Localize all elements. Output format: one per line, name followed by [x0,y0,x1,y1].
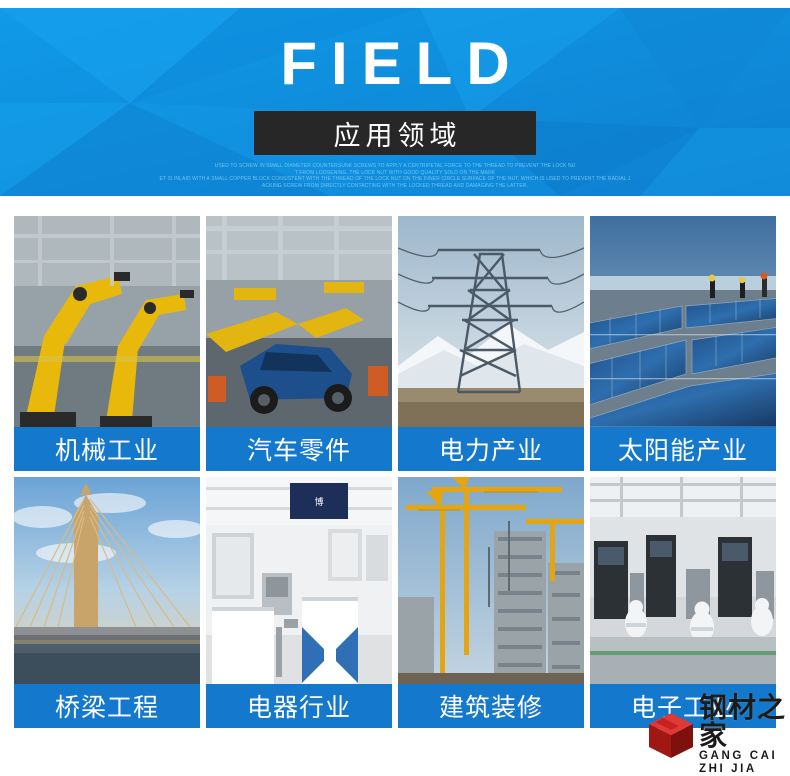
field-cell-electronics[interactable]: 电子工业 [590,477,776,728]
field-cell-solar[interactable]: 太阳能产业 [590,216,776,471]
fineprint-line-4: ACKING SCREW FROM DIRECTLY CONTACTING WI… [40,183,750,190]
home-appliance-showroom-photo: 博 [206,477,392,684]
field-label-construction: 建筑装修 [398,684,584,728]
field-label-machinery: 机械工业 [14,427,200,471]
solar-panel-farm-photo [590,216,776,427]
field-label-text: 电力产业 [439,431,543,467]
field-label-text: 桥梁工程 [55,688,159,724]
application-field-grid: 机械工业 [14,216,776,728]
electronics-factory-cleanroom-photo [590,477,776,684]
watermark-en-text: GANG CAI ZHI JIA [699,750,790,776]
fineprint-line-2: T FROM LOOSENING. THE LOCK NUT WITH GOOD… [40,170,750,177]
field-cell-power[interactable]: 电力产业 [398,216,584,471]
field-label-text: 电子工业 [631,688,735,724]
field-label-power: 电力产业 [398,427,584,471]
fineprint-line-3: ET IS INLAID WITH A SMALL COPPER BLOCK C… [40,176,750,183]
industrial-robot-arms-factory-photo [14,216,200,427]
field-label-text: 电器行业 [247,688,351,724]
field-label-electronics: 电子工业 [590,684,776,728]
banner-fineprint: USED TO SCREW IN SMALL DIAMETER COUNTERS… [0,163,790,189]
electric-transmission-tower-photo [398,216,584,427]
field-label-auto-parts: 汽车零件 [206,427,392,471]
field-label-text: 建筑装修 [439,688,543,724]
field-cell-machinery[interactable]: 机械工业 [14,216,200,471]
construction-site-cranes-photo [398,477,584,684]
cable-stayed-bridge-photo [14,477,200,684]
field-label-text: 汽车零件 [247,431,351,467]
field-label-text: 太阳能产业 [618,431,748,467]
field-cell-appliance[interactable]: 博 [206,477,392,728]
field-cell-bridge[interactable]: 桥梁工程 [14,477,200,728]
field-label-solar: 太阳能产业 [590,427,776,471]
automotive-assembly-line-photo [206,216,392,427]
field-label-bridge: 桥梁工程 [14,684,200,728]
subtitle-text: 应用领域 [329,114,462,153]
svg-text:博: 博 [314,496,323,508]
field-label-appliance: 电器行业 [206,684,392,728]
field-cell-auto-parts[interactable]: 汽车零件 [206,216,392,471]
field-cell-construction[interactable]: 建筑装修 [398,477,584,728]
page-title: FIELD [0,34,790,94]
page-banner: FIELD 应用领域 USED TO SCREW IN SMALL DIAMET… [0,8,790,196]
subtitle-banner: 应用领域 [254,111,536,155]
field-label-text: 机械工业 [55,431,159,467]
fineprint-line-1: USED TO SCREW IN SMALL DIAMETER COUNTERS… [40,163,750,170]
